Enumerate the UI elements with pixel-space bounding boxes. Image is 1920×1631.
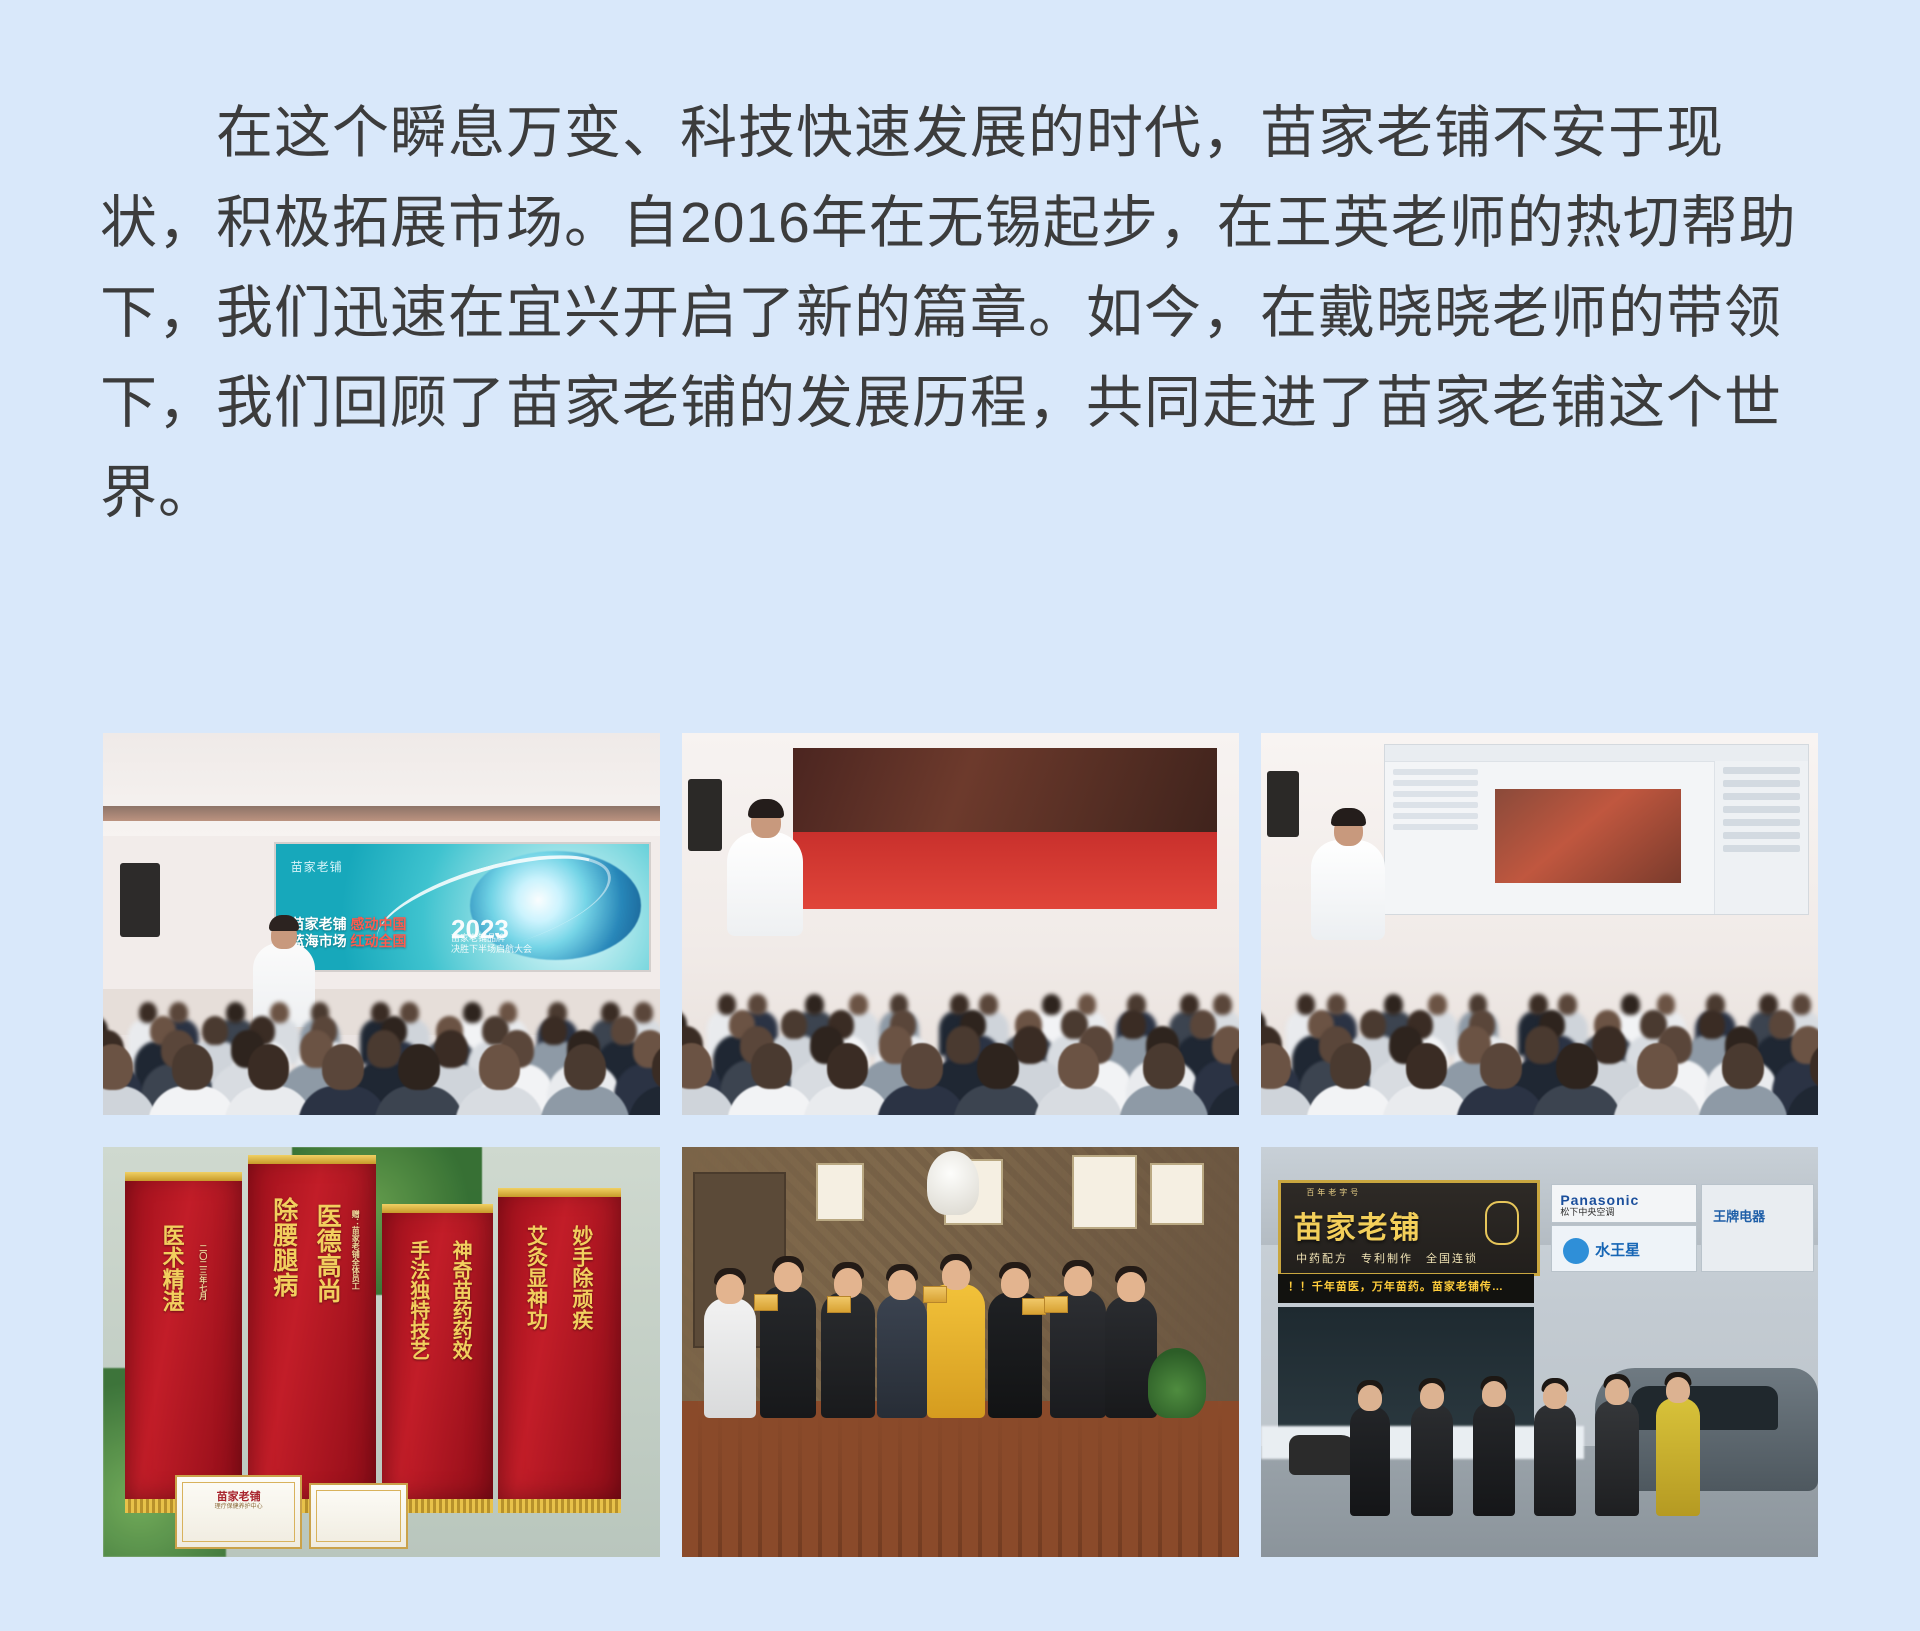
loudspeaker-icon: [688, 779, 722, 851]
neighbor-sign-panasonic: Panasonic 松下中央空调: [1551, 1184, 1698, 1223]
wall-frame-3: [1072, 1155, 1137, 1229]
wall-frame-1: [816, 1163, 865, 1220]
headline-l2b: 红动全国: [350, 933, 406, 949]
water-drop-icon: [1563, 1238, 1589, 1264]
screen-subtitle: 苗家老铺品牌 决胜下半场启航大会: [451, 933, 532, 955]
neighbor-sign-appliance: 王牌电器: [1701, 1184, 1814, 1272]
storefront-person-2: [1411, 1404, 1453, 1516]
scooter: [1289, 1435, 1359, 1475]
sign-seal-icon: [1485, 1201, 1519, 1245]
loudspeaker-icon: [120, 863, 160, 937]
appliance-brand: 王牌电器: [1713, 1206, 1765, 1225]
loudspeaker-icon: [1267, 771, 1299, 837]
screen-headline: 苗家老铺 感动中国 蓝海市场 红动全国: [291, 916, 407, 950]
wood-floor: [682, 1401, 1239, 1557]
photo-customers-with-products: [682, 1147, 1239, 1557]
banner-2: 除腰腿病 医德高尚 赠：苗家老铺全体员工: [248, 1155, 376, 1499]
audience-crowd: [682, 939, 1239, 1115]
person-3: [821, 1292, 875, 1418]
photo-conference-led-screen: 苗家老铺 苗家老铺 感动中国 蓝海市场 红动全国 2023 苗家老铺品牌 决胜下…: [103, 733, 660, 1115]
article-paragraph: 在这个瞬息万变、科技快速发展的时代，苗家老铺不安于现状，积极拓展市场。自2016…: [100, 88, 1830, 538]
headline-l1a: 苗家老铺: [291, 916, 347, 932]
person-2: [760, 1286, 816, 1418]
slide-stage: [793, 832, 1216, 909]
banner-3-text: 手法独特技艺: [404, 1240, 433, 1360]
banner-2-text: 除腰腿病: [266, 1197, 302, 1297]
certificate-subtitle: 理疗保健养护中心: [177, 1501, 300, 1510]
banner-2-note: 赠：苗家老铺全体员工: [350, 1210, 361, 1290]
screen-subtitle-2: 决胜下半场启航大会: [451, 944, 532, 954]
photo-gallery-grid: 苗家老铺 苗家老铺 感动中国 蓝海市场 红动全国 2023 苗家老铺品牌 决胜下…: [103, 733, 1817, 1557]
person-5: [927, 1284, 985, 1418]
person-4: [877, 1294, 927, 1418]
headline-l1b: 感动中国: [350, 916, 406, 932]
store-sign: 百年老字号 苗家老铺 中药配方 专利制作 全国连锁: [1278, 1180, 1540, 1276]
photo-silk-banners: 医术精湛 二〇二三年七月 除腰腿病 医德高尚 赠：苗家老铺全体员工 手法独特技艺…: [103, 1147, 660, 1557]
banner-4: 艾灸显神功 妙手除顽疾: [498, 1188, 621, 1500]
person-7: [1050, 1290, 1106, 1418]
slide-topbar: [1385, 745, 1808, 761]
banner-1-note: 二〇二三年七月: [198, 1244, 209, 1300]
banner-4-text-b: 妙手除顽疾: [566, 1225, 596, 1330]
photo-speaker-ui-slide: [1261, 733, 1818, 1115]
screen-logo: 苗家老铺: [291, 858, 343, 875]
storefront-person-6: [1656, 1398, 1700, 1516]
storefront-person-3: [1473, 1402, 1515, 1516]
banner-4-text: 艾灸显神功: [521, 1225, 551, 1330]
sculpture-bust: [927, 1151, 979, 1215]
banner-1: 医术精湛 二〇二三年七月: [125, 1172, 242, 1500]
wall-frame-4: [1150, 1163, 1204, 1224]
page-root: 在这个瞬息万变、科技快速发展的时代，苗家老铺不安于现状，积极拓展市场。自2016…: [0, 0, 1920, 1631]
slide-left-column: [1389, 764, 1482, 909]
presenter-figure: [1311, 840, 1385, 940]
neighbor-sign-water: 水王星: [1551, 1225, 1698, 1272]
storefront-person-4: [1534, 1404, 1576, 1516]
sign-main-title: 苗家老铺: [1294, 1203, 1422, 1247]
storefront-person-1: [1350, 1406, 1390, 1516]
sign-subtitle: 中药配方 专利制作 全国连锁: [1296, 1250, 1478, 1266]
ceiling-beam: [103, 806, 660, 821]
photo-speaker-group-slide: [682, 733, 1239, 1115]
led-screen: 苗家老铺 苗家老铺 感动中国 蓝海市场 红动全国 2023 苗家老铺品牌 决胜下…: [276, 844, 649, 970]
storefront-person-5: [1595, 1400, 1639, 1516]
banner-2-text-b: 医德高尚: [309, 1203, 345, 1303]
audience-crowd: [103, 955, 660, 1115]
slide-backdrop: [793, 748, 1216, 838]
slide-side-panel: [1714, 761, 1808, 914]
person-1: [704, 1298, 756, 1418]
article-text-block: 在这个瞬息万变、科技快速发展的时代，苗家老铺不安于现状，积极拓展市场。自2016…: [100, 88, 1830, 538]
slide-photo: [1495, 789, 1681, 883]
banner-3: 手法独特技艺 神奇苗药药效: [382, 1204, 493, 1499]
panasonic-sub: 松下中央空调: [1560, 1205, 1614, 1218]
photo-storefront: 百年老字号 苗家老铺 中药配方 专利制作 全国连锁 Panasonic 松下中央…: [1261, 1147, 1818, 1557]
screen-subtitle-1: 苗家老铺品牌: [451, 933, 505, 943]
water-brand: 水王星: [1595, 1239, 1640, 1260]
banner-1-text: 医术精湛: [156, 1224, 188, 1312]
projection-screen: [793, 748, 1216, 908]
certificate-1: 苗家老铺 理疗保健养护中心: [175, 1475, 302, 1549]
person-6: [988, 1292, 1042, 1418]
certificate-2: [309, 1483, 408, 1549]
presenter-figure: [727, 832, 803, 936]
projection-screen: [1384, 744, 1809, 914]
led-marquee: ！！千年苗医，万年苗药。苗家老铺传…: [1278, 1274, 1534, 1303]
sign-tagline-left: 百年老字号: [1306, 1187, 1361, 1198]
banner-3-text-b: 神奇苗药药效: [446, 1240, 475, 1360]
audience-crowd: [1261, 939, 1818, 1115]
marquee-text: ！！千年苗医，万年苗药。苗家老铺传…: [1288, 1278, 1504, 1294]
potted-plant: [1148, 1348, 1206, 1418]
